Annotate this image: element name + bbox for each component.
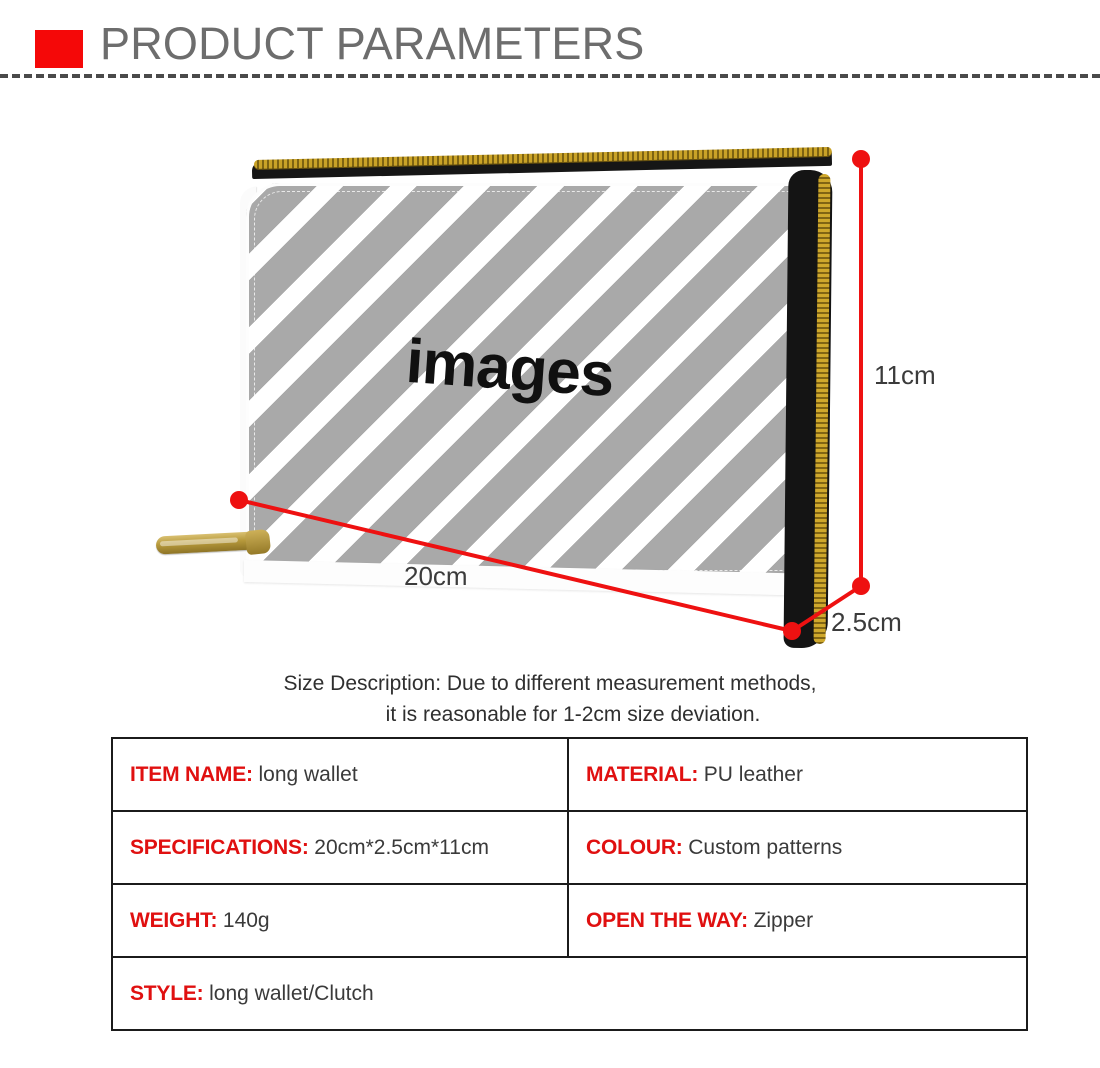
spec-key-weight: WEIGHT:	[130, 909, 223, 932]
table-row: WEIGHT: 140g OPEN THE WAY: Zipper	[112, 884, 1027, 957]
spec-value-material: PU leather	[704, 763, 803, 786]
table-row: STYLE: long wallet/Clutch	[112, 957, 1027, 1030]
wallet-striped-face: images	[246, 183, 806, 579]
zipper-slider-icon	[245, 529, 271, 555]
spec-key-specifications: SPECIFICATIONS:	[130, 836, 314, 859]
spec-cell-open-the-way: OPEN THE WAY: Zipper	[568, 884, 1027, 957]
wallet-illustration: images	[240, 165, 825, 590]
product-parameters-page: PRODUCT PARAMETERS images	[0, 0, 1100, 1068]
spec-value-specifications: 20cm*2.5cm*11cm	[314, 836, 489, 859]
size-description: Size Description: Due to different measu…	[0, 668, 1100, 730]
specifications-table: ITEM NAME: long wallet MATERIAL: PU leat…	[111, 737, 1028, 1031]
page-header: PRODUCT PARAMETERS	[0, 0, 1100, 78]
wallet-outline: images	[240, 165, 825, 590]
spec-key-item-name: ITEM NAME:	[130, 763, 258, 786]
dimension-label-width: 20cm	[404, 561, 468, 592]
header-accent-swatch	[35, 30, 83, 68]
spec-value-item-name: long wallet	[258, 763, 357, 786]
spec-key-material: MATERIAL:	[586, 763, 704, 786]
spec-cell-material: MATERIAL: PU leather	[568, 738, 1027, 811]
dimension-label-depth: 2.5cm	[831, 607, 902, 638]
spec-cell-weight: WEIGHT: 140g	[112, 884, 568, 957]
spec-value-weight: 140g	[223, 909, 270, 932]
table-row: ITEM NAME: long wallet MATERIAL: PU leat…	[112, 738, 1027, 811]
spec-cell-specifications: SPECIFICATIONS: 20cm*2.5cm*11cm	[112, 811, 568, 884]
spec-cell-style: STYLE: long wallet/Clutch	[112, 957, 1027, 1030]
spec-value-colour: Custom patterns	[688, 836, 842, 859]
spec-value-open-the-way: Zipper	[754, 909, 814, 932]
dimension-label-height: 11cm	[874, 360, 936, 391]
spec-key-open-the-way: OPEN THE WAY:	[586, 909, 754, 932]
watermark-text: images	[404, 326, 616, 411]
spec-cell-item-name: ITEM NAME: long wallet	[112, 738, 568, 811]
page-title: PRODUCT PARAMETERS	[100, 16, 645, 72]
spec-key-style: STYLE:	[130, 982, 209, 1005]
size-description-line-2: it is reasonable for 1-2cm size deviatio…	[0, 699, 1100, 730]
spec-cell-colour: COLOUR: Custom patterns	[568, 811, 1027, 884]
spec-key-colour: COLOUR:	[586, 836, 688, 859]
spec-value-style: long wallet/Clutch	[209, 982, 374, 1005]
size-description-line-1: Size Description: Due to different measu…	[283, 672, 816, 695]
table-row: SPECIFICATIONS: 20cm*2.5cm*11cm COLOUR: …	[112, 811, 1027, 884]
